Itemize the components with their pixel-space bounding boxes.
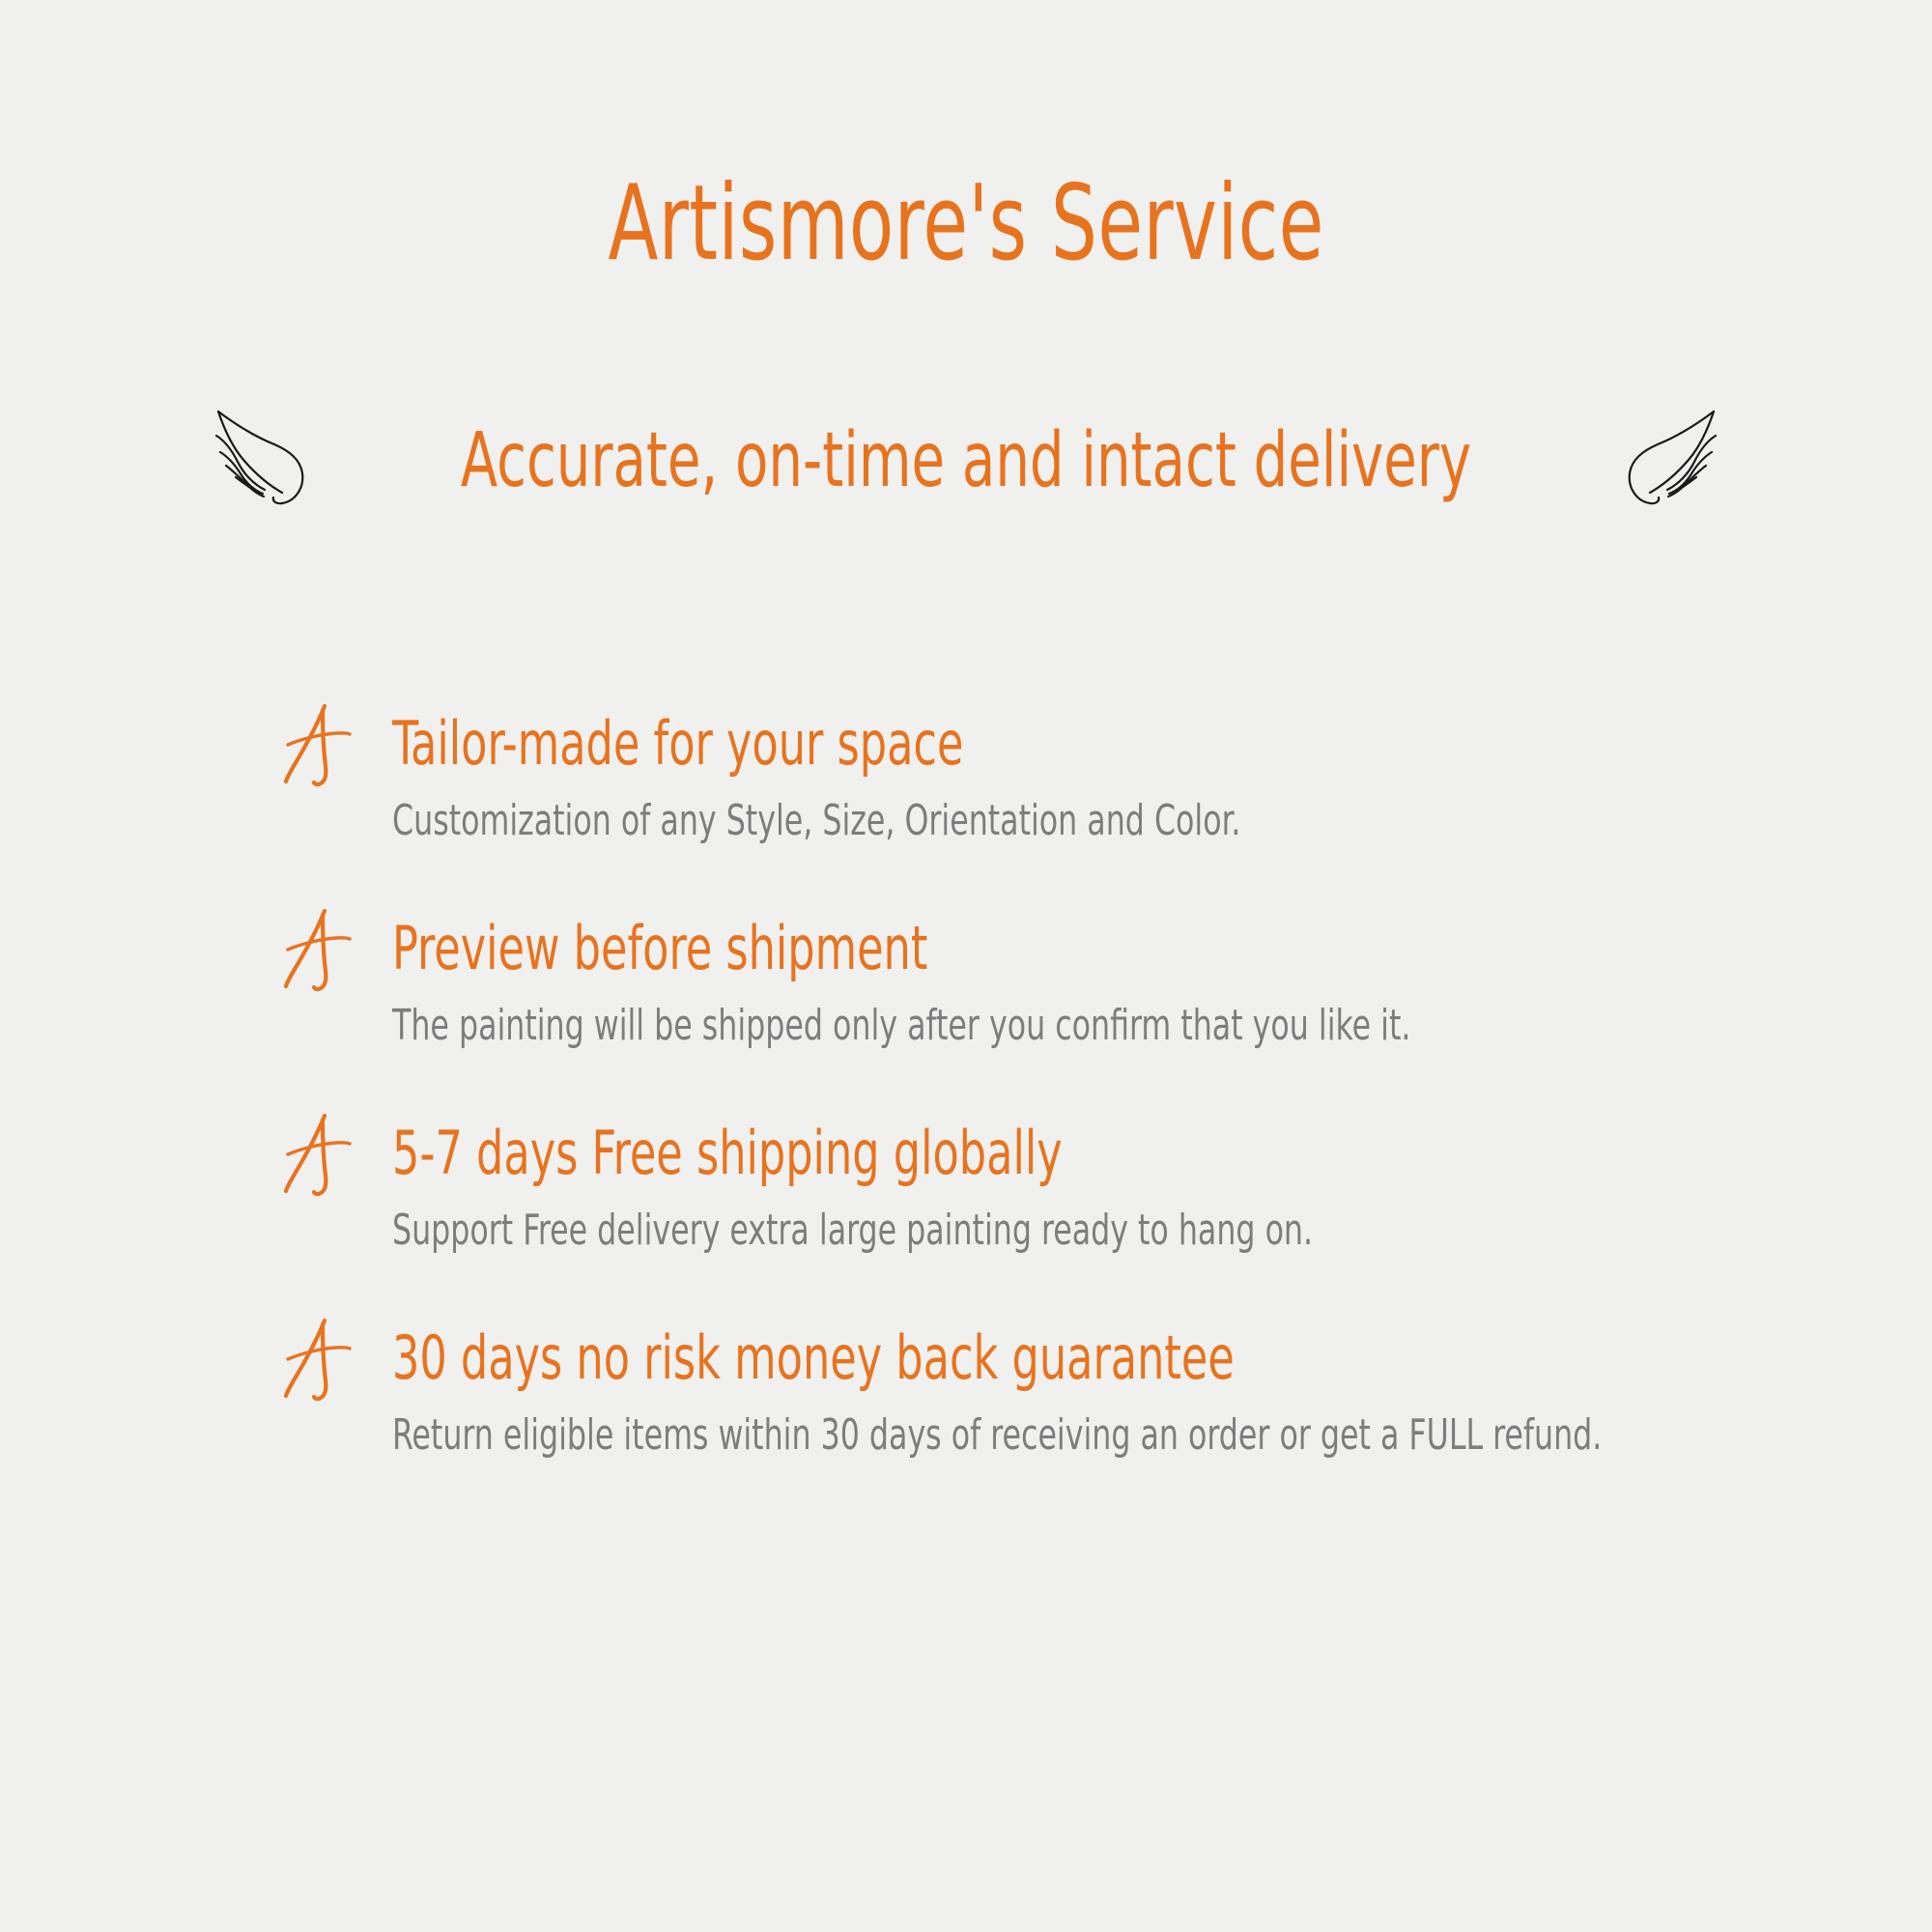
feature-body: Tailor-made for your space Customization… (392, 710, 1828, 847)
feature-title: Preview before shipment (392, 915, 1541, 981)
list-item: Tailor-made for your space Customization… (282, 710, 1828, 855)
list-item: 5-7 days Free shipping globally Support … (282, 1120, 1828, 1264)
list-item: 30 days no risk money back guarantee Ret… (282, 1324, 1828, 1469)
list-item: Preview before shipment The painting wil… (282, 915, 1828, 1060)
page-title: Artismore's Service (608, 169, 1323, 278)
artismore-a-monogram-icon (282, 909, 354, 992)
feature-description: The painting will be shipped only after … (392, 1001, 1541, 1052)
feature-title: 30 days no risk money back guarantee (392, 1324, 1541, 1391)
artismore-a-monogram-icon (282, 1319, 354, 1402)
feature-body: Preview before shipment The painting wil… (392, 915, 1828, 1052)
wing-icon-left-holder (205, 404, 321, 520)
feature-body: 30 days no risk money back guarantee Ret… (392, 1324, 1828, 1462)
feature-description: Return eligible items within 30 days of … (392, 1410, 1541, 1462)
subtitle-banner: Accurate, on-time and intact delivery (0, 404, 1932, 520)
page-title-container: Artismore's Service (0, 169, 1932, 278)
feature-body: 5-7 days Free shipping globally Support … (392, 1120, 1828, 1257)
feature-description: Support Free delivery extra large painti… (392, 1206, 1541, 1257)
artismore-a-monogram-icon (282, 1114, 354, 1197)
wing-icon (205, 404, 321, 520)
page-subtitle: Accurate, on-time and intact delivery (458, 420, 1475, 503)
feature-title: 5-7 days Free shipping globally (392, 1120, 1541, 1186)
service-feature-list: Tailor-made for your space Customization… (282, 710, 1828, 1469)
wing-icon-right-holder (1611, 404, 1727, 520)
feature-description: Customization of any Style, Size, Orient… (392, 796, 1541, 847)
feature-title: Tailor-made for your space (392, 710, 1541, 777)
artismore-a-monogram-icon (282, 704, 354, 787)
wing-icon (1611, 404, 1727, 520)
service-info-page: Artismore's Service Accurate, on-time an… (0, 0, 1932, 1932)
